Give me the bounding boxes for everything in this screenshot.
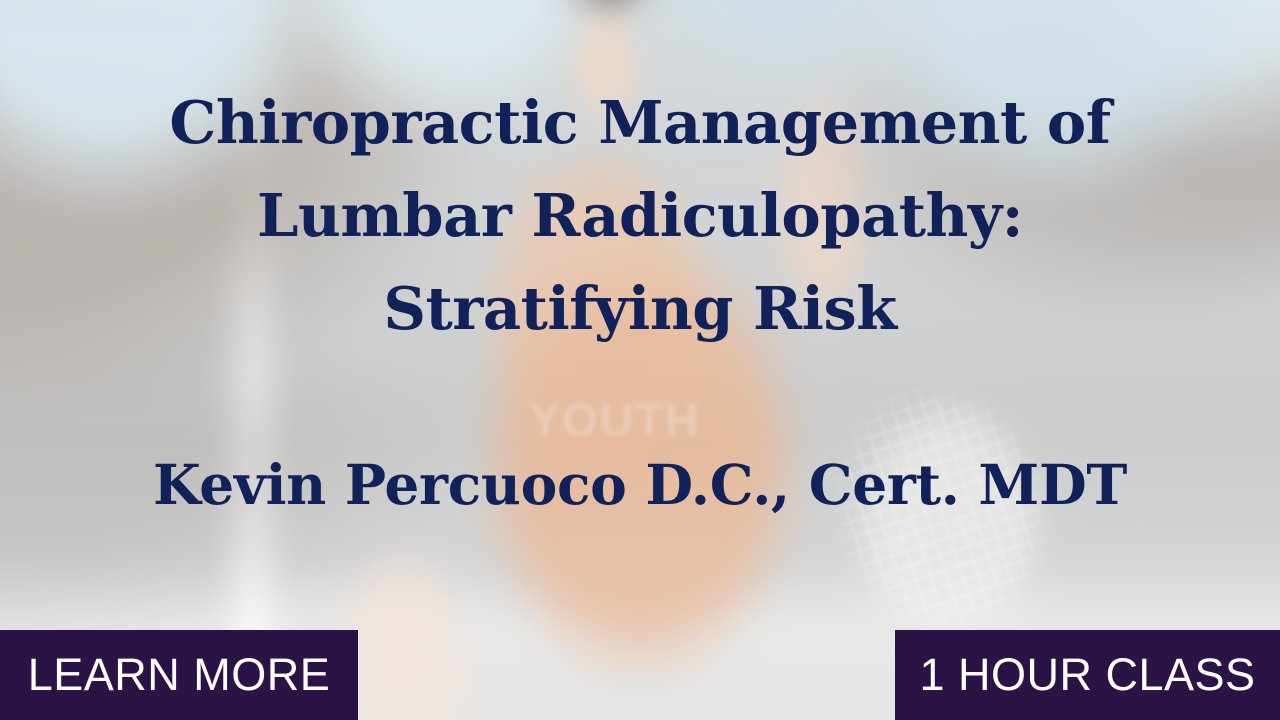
- learn-more-button[interactable]: LEARN MORE: [0, 630, 358, 720]
- slide-title: Chiropractic Management of Lumbar Radicu…: [0, 76, 1280, 355]
- title-line-3: Stratifying Risk: [0, 262, 1280, 355]
- learn-more-label: LEARN MORE: [28, 649, 331, 701]
- title-line-2: Lumbar Radiculopathy:: [0, 169, 1280, 262]
- promo-slide: YOUTH Chiropractic Management of Lumbar …: [0, 0, 1280, 720]
- title-line-1: Chiropractic Management of: [0, 76, 1280, 169]
- class-duration-label: 1 HOUR CLASS: [919, 649, 1255, 701]
- class-duration-badge[interactable]: 1 HOUR CLASS: [895, 630, 1280, 720]
- slide-content: Chiropractic Management of Lumbar Radicu…: [0, 0, 1280, 720]
- presenter-name: Kevin Percuoco D.C., Cert. MDT: [0, 452, 1280, 518]
